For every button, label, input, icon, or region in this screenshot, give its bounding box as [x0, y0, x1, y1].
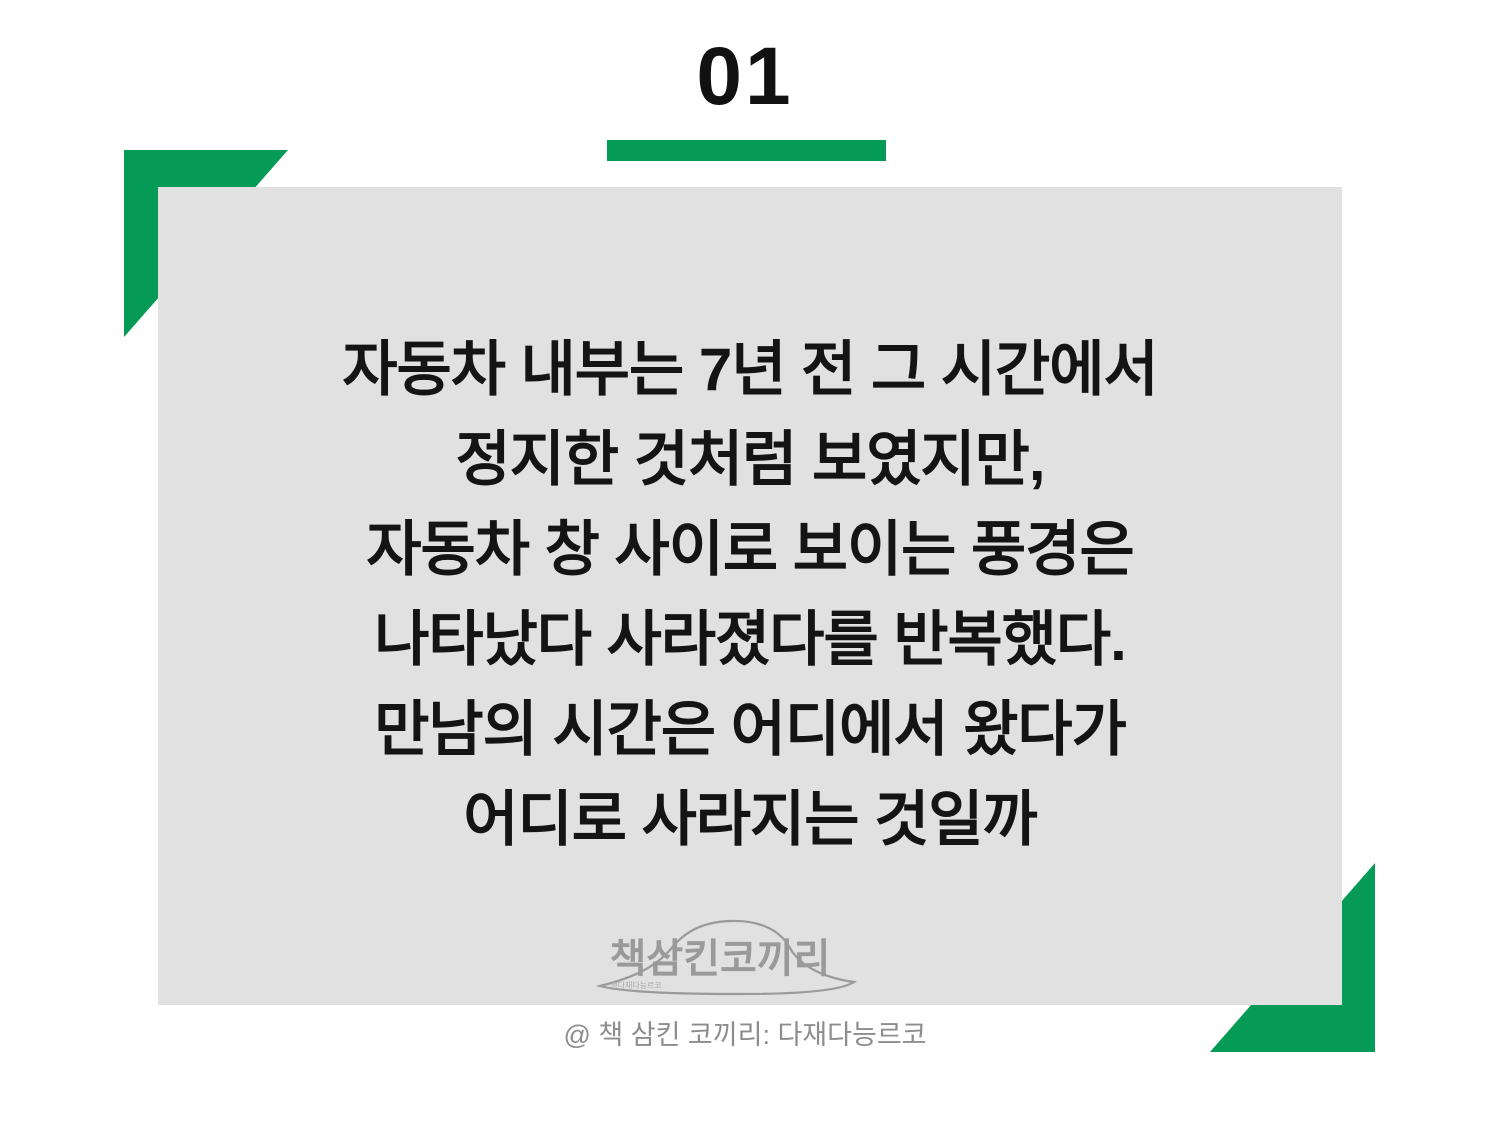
quote-line: 정지한 것처럼 보였지만,	[158, 415, 1342, 505]
page-title: 01	[0, 36, 1490, 118]
logo-main-text: 책삼킨코끼리	[610, 937, 831, 981]
brand-logo-icon: 책삼킨코끼리 책다재다능르코	[592, 916, 862, 1000]
quote-card: 01 자동차 내부는 7년 전 그 시간에서 정지한 것처럼 보였지만, 자동차…	[0, 0, 1500, 1127]
attribution-caption: @ 책 삼킨 코끼리: 다재다능르코	[0, 1013, 1490, 1052]
quote-line: 자동차 내부는 7년 전 그 시간에서	[158, 325, 1342, 415]
quote-line: 어디로 사라지는 것일까	[158, 775, 1342, 865]
quote-line: 자동차 창 사이로 보이는 풍경은	[158, 505, 1342, 595]
quote-line: 나타났다 사라졌다를 반복했다.	[158, 595, 1342, 685]
header-underline	[607, 140, 886, 161]
quote-panel: 자동차 내부는 7년 전 그 시간에서 정지한 것처럼 보였지만, 자동차 창 …	[158, 187, 1342, 1005]
quote-line: 만남의 시간은 어디에서 왔다가	[158, 685, 1342, 775]
logo-sub-text: 책다재다능르코	[610, 980, 662, 990]
quote-body: 자동차 내부는 7년 전 그 시간에서 정지한 것처럼 보였지만, 자동차 창 …	[158, 325, 1342, 865]
